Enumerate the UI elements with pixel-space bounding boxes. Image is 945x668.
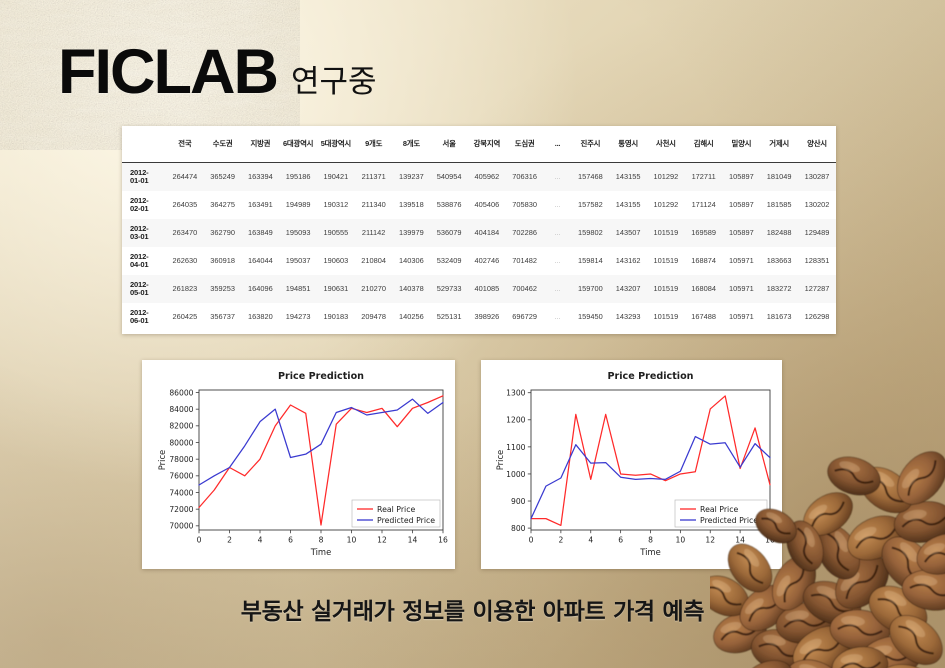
chart-title: Price Prediction	[278, 371, 364, 382]
table-header-row: 전국수도권지방권6대광역시5대광역시9개도8개도서울강북지역도심권...진주시통…	[122, 126, 836, 163]
y-axis-label: Price	[495, 450, 505, 470]
table-col-header: 양산시	[798, 126, 836, 163]
x-tick-label: 0	[529, 536, 534, 545]
y-tick-label: 84000	[169, 405, 193, 414]
table-cell: 525131	[430, 303, 468, 331]
table-cell: 143155	[609, 191, 647, 219]
table-cell: 159700	[572, 275, 610, 303]
dataframe-panel: 전국수도권지방권6대광역시5대광역시9개도8개도서울강북지역도심권...진주시통…	[122, 126, 836, 334]
table-cell: 359253	[204, 275, 242, 303]
table-col-header: ...	[544, 126, 572, 163]
x-tick-label: 10	[347, 536, 357, 545]
table-cell: 128351	[798, 247, 836, 275]
table-cell: 183272	[760, 275, 798, 303]
table-cell: 190631	[317, 275, 355, 303]
table-cell: 105971	[723, 275, 761, 303]
table-cell: 159814	[572, 247, 610, 275]
y-tick-label: 1200	[506, 416, 525, 425]
table-cell: 140256	[393, 303, 431, 331]
table-cell: 163820	[242, 303, 280, 331]
table-cell: 190603	[317, 247, 355, 275]
table-cell: 183663	[760, 247, 798, 275]
y-tick-label: 82000	[169, 422, 193, 431]
y-tick-label: 74000	[169, 488, 193, 497]
table-cell: 263470	[166, 219, 204, 247]
table-cell: 163394	[242, 163, 280, 192]
table-cell: 101519	[647, 219, 685, 247]
table-cell: 195093	[279, 219, 317, 247]
logo-wordmark: FICLAB	[58, 44, 277, 102]
table-row-index: 2012-05-01	[122, 275, 166, 303]
table-cell: 211340	[355, 191, 393, 219]
table-cell: 139979	[393, 219, 431, 247]
table-cell: 105971	[723, 247, 761, 275]
table-col-header: 강북지역	[468, 126, 506, 163]
table-cell: 182488	[760, 219, 798, 247]
table-col-header: 도심권	[506, 126, 544, 163]
y-tick-label: 76000	[169, 472, 193, 481]
table-cell: 164096	[242, 275, 280, 303]
table-row-index: 2012-02-01	[122, 191, 166, 219]
table-cell: 159450	[572, 303, 610, 331]
table-cell: 143293	[609, 303, 647, 331]
table-col-header: 8개도	[393, 126, 431, 163]
table-cell: 211142	[355, 219, 393, 247]
table-cell: 262630	[166, 247, 204, 275]
table-cell: 181049	[760, 163, 798, 192]
table-col-header: 서울	[430, 126, 468, 163]
table-cell: 190555	[317, 219, 355, 247]
table-cell: 126298	[798, 303, 836, 331]
table-cell: 540954	[430, 163, 468, 192]
table-cell: ...	[544, 275, 572, 303]
table-cell: 702286	[506, 219, 544, 247]
chart-title: Price Prediction	[608, 371, 694, 382]
table-cell: 209478	[355, 303, 393, 331]
x-axis-label: Time	[639, 547, 661, 557]
y-tick-label: 900	[511, 497, 526, 506]
table-cell: 405406	[468, 191, 506, 219]
table-cell: 101292	[647, 191, 685, 219]
table-cell: ...	[544, 247, 572, 275]
table-cell: 168874	[685, 247, 723, 275]
table-col-header: 밀양시	[723, 126, 761, 163]
y-tick-label: 72000	[169, 505, 193, 514]
table-row: 2012-06-01260425356737163820194273190183…	[122, 303, 836, 331]
table-cell: 536079	[430, 219, 468, 247]
table-row: 2012-03-01263470362790163849195093190555…	[122, 219, 836, 247]
table-cell: 696729	[506, 303, 544, 331]
table-cell: 157582	[572, 191, 610, 219]
x-tick-label: 16	[438, 536, 448, 545]
y-axis-label: Price	[157, 450, 167, 470]
table-row: 2012-02-01264035364275163491194989190312…	[122, 191, 836, 219]
table-cell: 190312	[317, 191, 355, 219]
table-cell: 532409	[430, 247, 468, 275]
table-col-header: 통영시	[609, 126, 647, 163]
table-cell: 139518	[393, 191, 431, 219]
table-cell: 101292	[647, 163, 685, 192]
table-cell: 190421	[317, 163, 355, 192]
x-tick-label: 12	[377, 536, 387, 545]
table-cell: 140378	[393, 275, 431, 303]
table-cell: 190183	[317, 303, 355, 331]
x-tick-label: 2	[558, 536, 563, 545]
table-cell: ...	[544, 219, 572, 247]
table-row-index: 2012-04-01	[122, 247, 166, 275]
table-cell: 105897	[723, 219, 761, 247]
table-col-header: 9개도	[355, 126, 393, 163]
table-cell: 130287	[798, 163, 836, 192]
table-row-index: 2012-03-01	[122, 219, 166, 247]
table-cell: 210804	[355, 247, 393, 275]
chart-panel-left: Price Prediction700007200074000760007800…	[142, 360, 455, 569]
x-tick-label: 8	[319, 536, 324, 545]
y-tick-label: 1000	[506, 470, 525, 479]
table-col-header: 진주시	[572, 126, 610, 163]
y-tick-label: 70000	[169, 522, 193, 531]
table-cell: 105971	[723, 303, 761, 331]
table-cell: 194851	[279, 275, 317, 303]
table-row-index: 2012-06-01	[122, 303, 166, 331]
x-tick-label: 6	[288, 536, 293, 545]
table-col-header: 김해시	[685, 126, 723, 163]
table-corner-cell	[122, 126, 166, 163]
table-cell: 538876	[430, 191, 468, 219]
table-cell: 211371	[355, 163, 393, 192]
table-cell: 700462	[506, 275, 544, 303]
table-cell: 365249	[204, 163, 242, 192]
legend-label: Predicted Price	[377, 516, 435, 525]
ficlab-logo: FICLAB 연구중	[58, 44, 377, 102]
table-cell: 171124	[685, 191, 723, 219]
dataframe-table: 전국수도권지방권6대광역시5대광역시9개도8개도서울강북지역도심권...진주시통…	[122, 126, 836, 331]
x-tick-label: 0	[197, 536, 202, 545]
y-tick-label: 1100	[506, 443, 525, 452]
coffee-beans-image	[710, 418, 945, 668]
table-cell: 105897	[723, 191, 761, 219]
legend-label: Real Price	[377, 505, 416, 514]
table-cell: 401085	[468, 275, 506, 303]
table-cell: 101519	[647, 303, 685, 331]
table-cell: 195186	[279, 163, 317, 192]
table-cell: 143162	[609, 247, 647, 275]
table-cell: 159802	[572, 219, 610, 247]
table-cell: 129489	[798, 219, 836, 247]
table-cell: 261823	[166, 275, 204, 303]
x-tick-label: 6	[618, 536, 623, 545]
table-cell: 130202	[798, 191, 836, 219]
table-cell: 194273	[279, 303, 317, 331]
y-tick-label: 86000	[169, 388, 193, 397]
table-cell: 164044	[242, 247, 280, 275]
table-cell: 705830	[506, 191, 544, 219]
table-cell: 167488	[685, 303, 723, 331]
table-col-header: 전국	[166, 126, 204, 163]
table-row: 2012-05-01261823359253164096194851190631…	[122, 275, 836, 303]
table-col-header: 6대광역시	[279, 126, 317, 163]
table-cell: 181585	[760, 191, 798, 219]
y-tick-label: 80000	[169, 438, 193, 447]
table-cell: 172711	[685, 163, 723, 192]
table-cell: 402746	[468, 247, 506, 275]
x-tick-label: 4	[588, 536, 593, 545]
table-col-header: 5대광역시	[317, 126, 355, 163]
table-row: 2012-04-01262630360918164044195037190603…	[122, 247, 836, 275]
table-cell: 264035	[166, 191, 204, 219]
table-cell: 398926	[468, 303, 506, 331]
table-cell: 195037	[279, 247, 317, 275]
x-tick-label: 4	[258, 536, 263, 545]
table-cell: 163491	[242, 191, 280, 219]
x-tick-label: 8	[648, 536, 653, 545]
table-cell: 362790	[204, 219, 242, 247]
table-cell: 139237	[393, 163, 431, 192]
table-cell: 210270	[355, 275, 393, 303]
table-cell: 105897	[723, 163, 761, 192]
table-cell: 168084	[685, 275, 723, 303]
table-col-header: 수도권	[204, 126, 242, 163]
y-tick-label: 800	[511, 524, 526, 533]
table-cell: 404184	[468, 219, 506, 247]
table-cell: 157468	[572, 163, 610, 192]
logo-subtitle: 연구중	[291, 67, 377, 102]
x-axis-label: Time	[310, 547, 332, 557]
table-row-index: 2012-01-01	[122, 163, 166, 192]
table-cell: 701482	[506, 247, 544, 275]
table-cell: 181673	[760, 303, 798, 331]
table-cell: 169589	[685, 219, 723, 247]
x-tick-label: 10	[676, 536, 686, 545]
table-col-header: 사천시	[647, 126, 685, 163]
table-cell: 356737	[204, 303, 242, 331]
y-tick-label: 1300	[506, 389, 525, 398]
table-cell: 194989	[279, 191, 317, 219]
table-cell: 163849	[242, 219, 280, 247]
table-cell: ...	[544, 303, 572, 331]
table-cell: 101519	[647, 275, 685, 303]
table-cell: 360918	[204, 247, 242, 275]
x-tick-label: 14	[408, 536, 418, 545]
table-col-header: 거제시	[760, 126, 798, 163]
table-cell: 260425	[166, 303, 204, 331]
table-cell: 143155	[609, 163, 647, 192]
table-cell: ...	[544, 191, 572, 219]
table-cell: 706316	[506, 163, 544, 192]
table-cell: 264474	[166, 163, 204, 192]
table-row: 2012-01-01264474365249163394195186190421…	[122, 163, 836, 192]
table-col-header: 지방권	[242, 126, 280, 163]
table-cell: 405962	[468, 163, 506, 192]
table-cell: 143507	[609, 219, 647, 247]
table-cell: 364275	[204, 191, 242, 219]
price-prediction-chart-left: Price Prediction700007200074000760007800…	[142, 360, 455, 569]
table-cell: 140306	[393, 247, 431, 275]
y-tick-label: 78000	[169, 455, 193, 464]
x-tick-label: 2	[227, 536, 232, 545]
table-cell: 101519	[647, 247, 685, 275]
table-cell: 529733	[430, 275, 468, 303]
table-cell: ...	[544, 163, 572, 192]
table-cell: 127287	[798, 275, 836, 303]
table-cell: 143207	[609, 275, 647, 303]
